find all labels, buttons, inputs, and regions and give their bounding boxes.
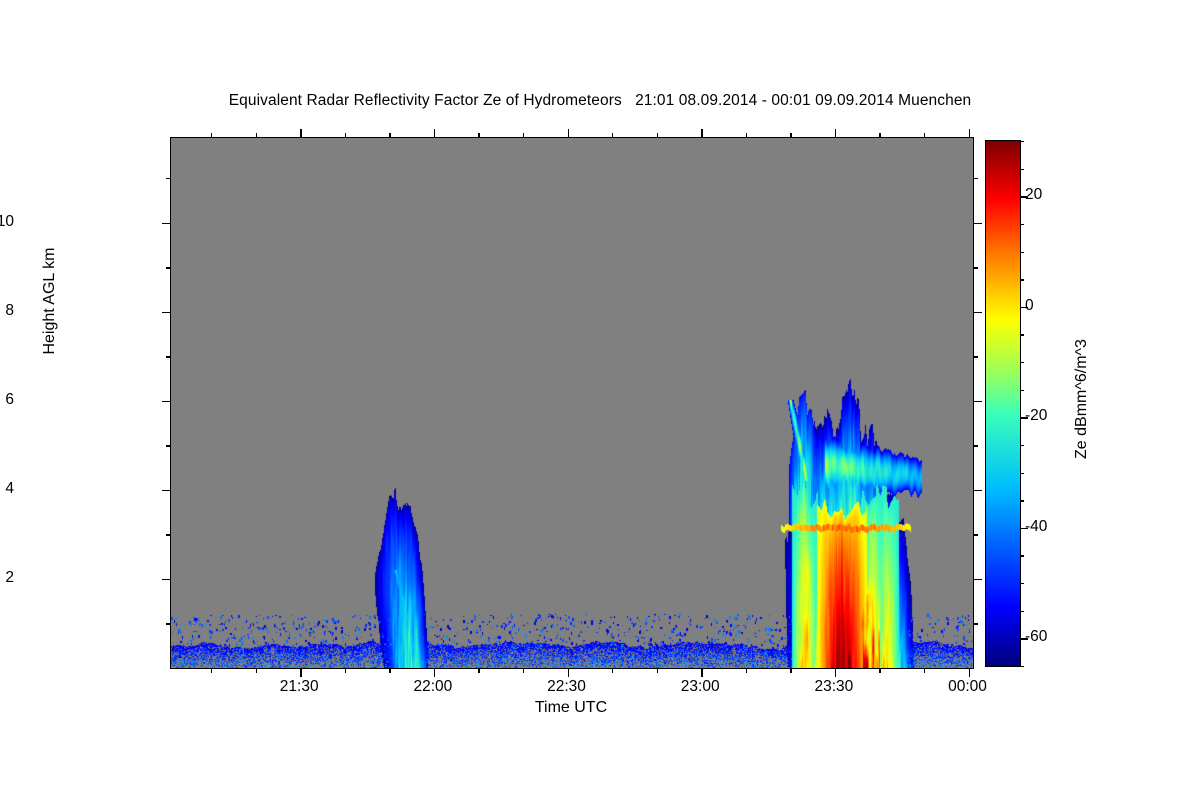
y-tick-right [973,267,978,268]
y-tick [166,267,171,268]
colorbar-tick [1020,666,1024,667]
colorbar-tick [1020,473,1024,474]
colorbar-tick [1020,141,1024,142]
x-tick-top [790,133,791,138]
y-tick-right [973,223,982,224]
x-tick [211,668,212,673]
x-tick [389,668,390,673]
y-tick [162,312,171,313]
x-tick-label: 00:00 [948,678,987,696]
colorbar-tick-label: -60 [1025,628,1047,646]
y-tick-right [973,490,982,491]
colorbar-tick [1020,500,1024,501]
x-tick-top [657,133,658,138]
colorbar-tick [1020,445,1024,446]
x-axis-title: Time UTC [170,699,972,717]
x-tick-label: 21:30 [280,678,319,696]
y-tick [166,178,171,179]
x-tick-top [969,129,970,138]
colorbar-tick [1020,169,1024,170]
colorbar-tick-label: 20 [1025,186,1042,204]
x-tick [701,668,702,677]
x-tick-top [746,133,747,138]
y-tick [162,579,171,580]
y-tick-right [973,312,982,313]
x-tick-top [701,129,702,138]
colorbar-tick [1020,362,1024,363]
x-tick [300,668,301,677]
y-tick-label: 10 [0,213,14,231]
x-tick [612,668,613,673]
x-tick [924,668,925,673]
colorbar-tick-label: 0 [1025,297,1034,315]
colorbar-title: Ze dBmm^6/m^3 [1073,289,1091,509]
x-tick-label: 23:00 [681,678,720,696]
x-tick-top [256,133,257,138]
y-tick [162,223,171,224]
y-tick-right [973,623,978,624]
x-tick-label: 22:00 [413,678,452,696]
y-tick-right [973,356,978,357]
x-tick [835,668,836,677]
colorbar-tick [1020,252,1024,253]
x-tick-top [612,133,613,138]
x-tick-top [879,133,880,138]
x-tick [657,668,658,673]
x-tick [568,668,569,677]
x-tick [256,668,257,673]
x-tick [478,668,479,673]
y-tick-right [973,401,982,402]
y-tick [166,623,171,624]
x-tick-top [389,133,390,138]
plot-area [170,137,974,669]
y-tick [166,534,171,535]
colorbar-tick [1020,390,1024,391]
colorbar-gradient [986,141,1020,666]
y-tick-label: 2 [5,569,14,587]
x-tick-label: 22:30 [547,678,586,696]
x-tick-top [434,129,435,138]
colorbar-tick [1020,279,1024,280]
x-tick-top [211,133,212,138]
x-tick [345,668,346,673]
colorbar-tick-label: -20 [1025,407,1047,425]
y-tick-right [973,178,978,179]
x-tick-top [568,129,569,138]
x-tick-top [478,133,479,138]
x-tick-label: 23:30 [814,678,853,696]
y-tick-right [973,534,978,535]
page-title: Equivalent Radar Reflectivity Factor Ze … [0,92,1200,110]
y-tick [166,356,171,357]
x-tick [790,668,791,673]
colorbar-tick [1020,224,1024,225]
reflectivity-heatmap-canvas [171,138,973,668]
y-tick [162,490,171,491]
colorbar-tick [1020,611,1024,612]
x-tick-top [924,133,925,138]
y-axis-title: Height AGL km [41,191,59,411]
y-tick-label: 6 [5,391,14,409]
x-tick-top [300,129,301,138]
x-tick [746,668,747,673]
x-tick [969,668,970,677]
x-tick-top [523,133,524,138]
x-tick-top [345,133,346,138]
x-tick [523,668,524,673]
y-tick-label: 8 [5,302,14,320]
y-tick-label: 4 [5,480,14,498]
colorbar-tick [1020,334,1024,335]
radar-reflectivity-figure: Equivalent Radar Reflectivity Factor Ze … [0,0,1200,800]
colorbar [985,140,1021,667]
colorbar-tick [1020,583,1024,584]
colorbar-tick [1020,555,1024,556]
colorbar-tick-label: -40 [1025,518,1047,536]
y-tick-right [973,579,982,580]
x-tick [879,668,880,673]
y-tick [162,401,171,402]
x-tick-top [835,129,836,138]
y-tick [166,445,171,446]
x-tick [434,668,435,677]
y-tick-right [973,445,978,446]
